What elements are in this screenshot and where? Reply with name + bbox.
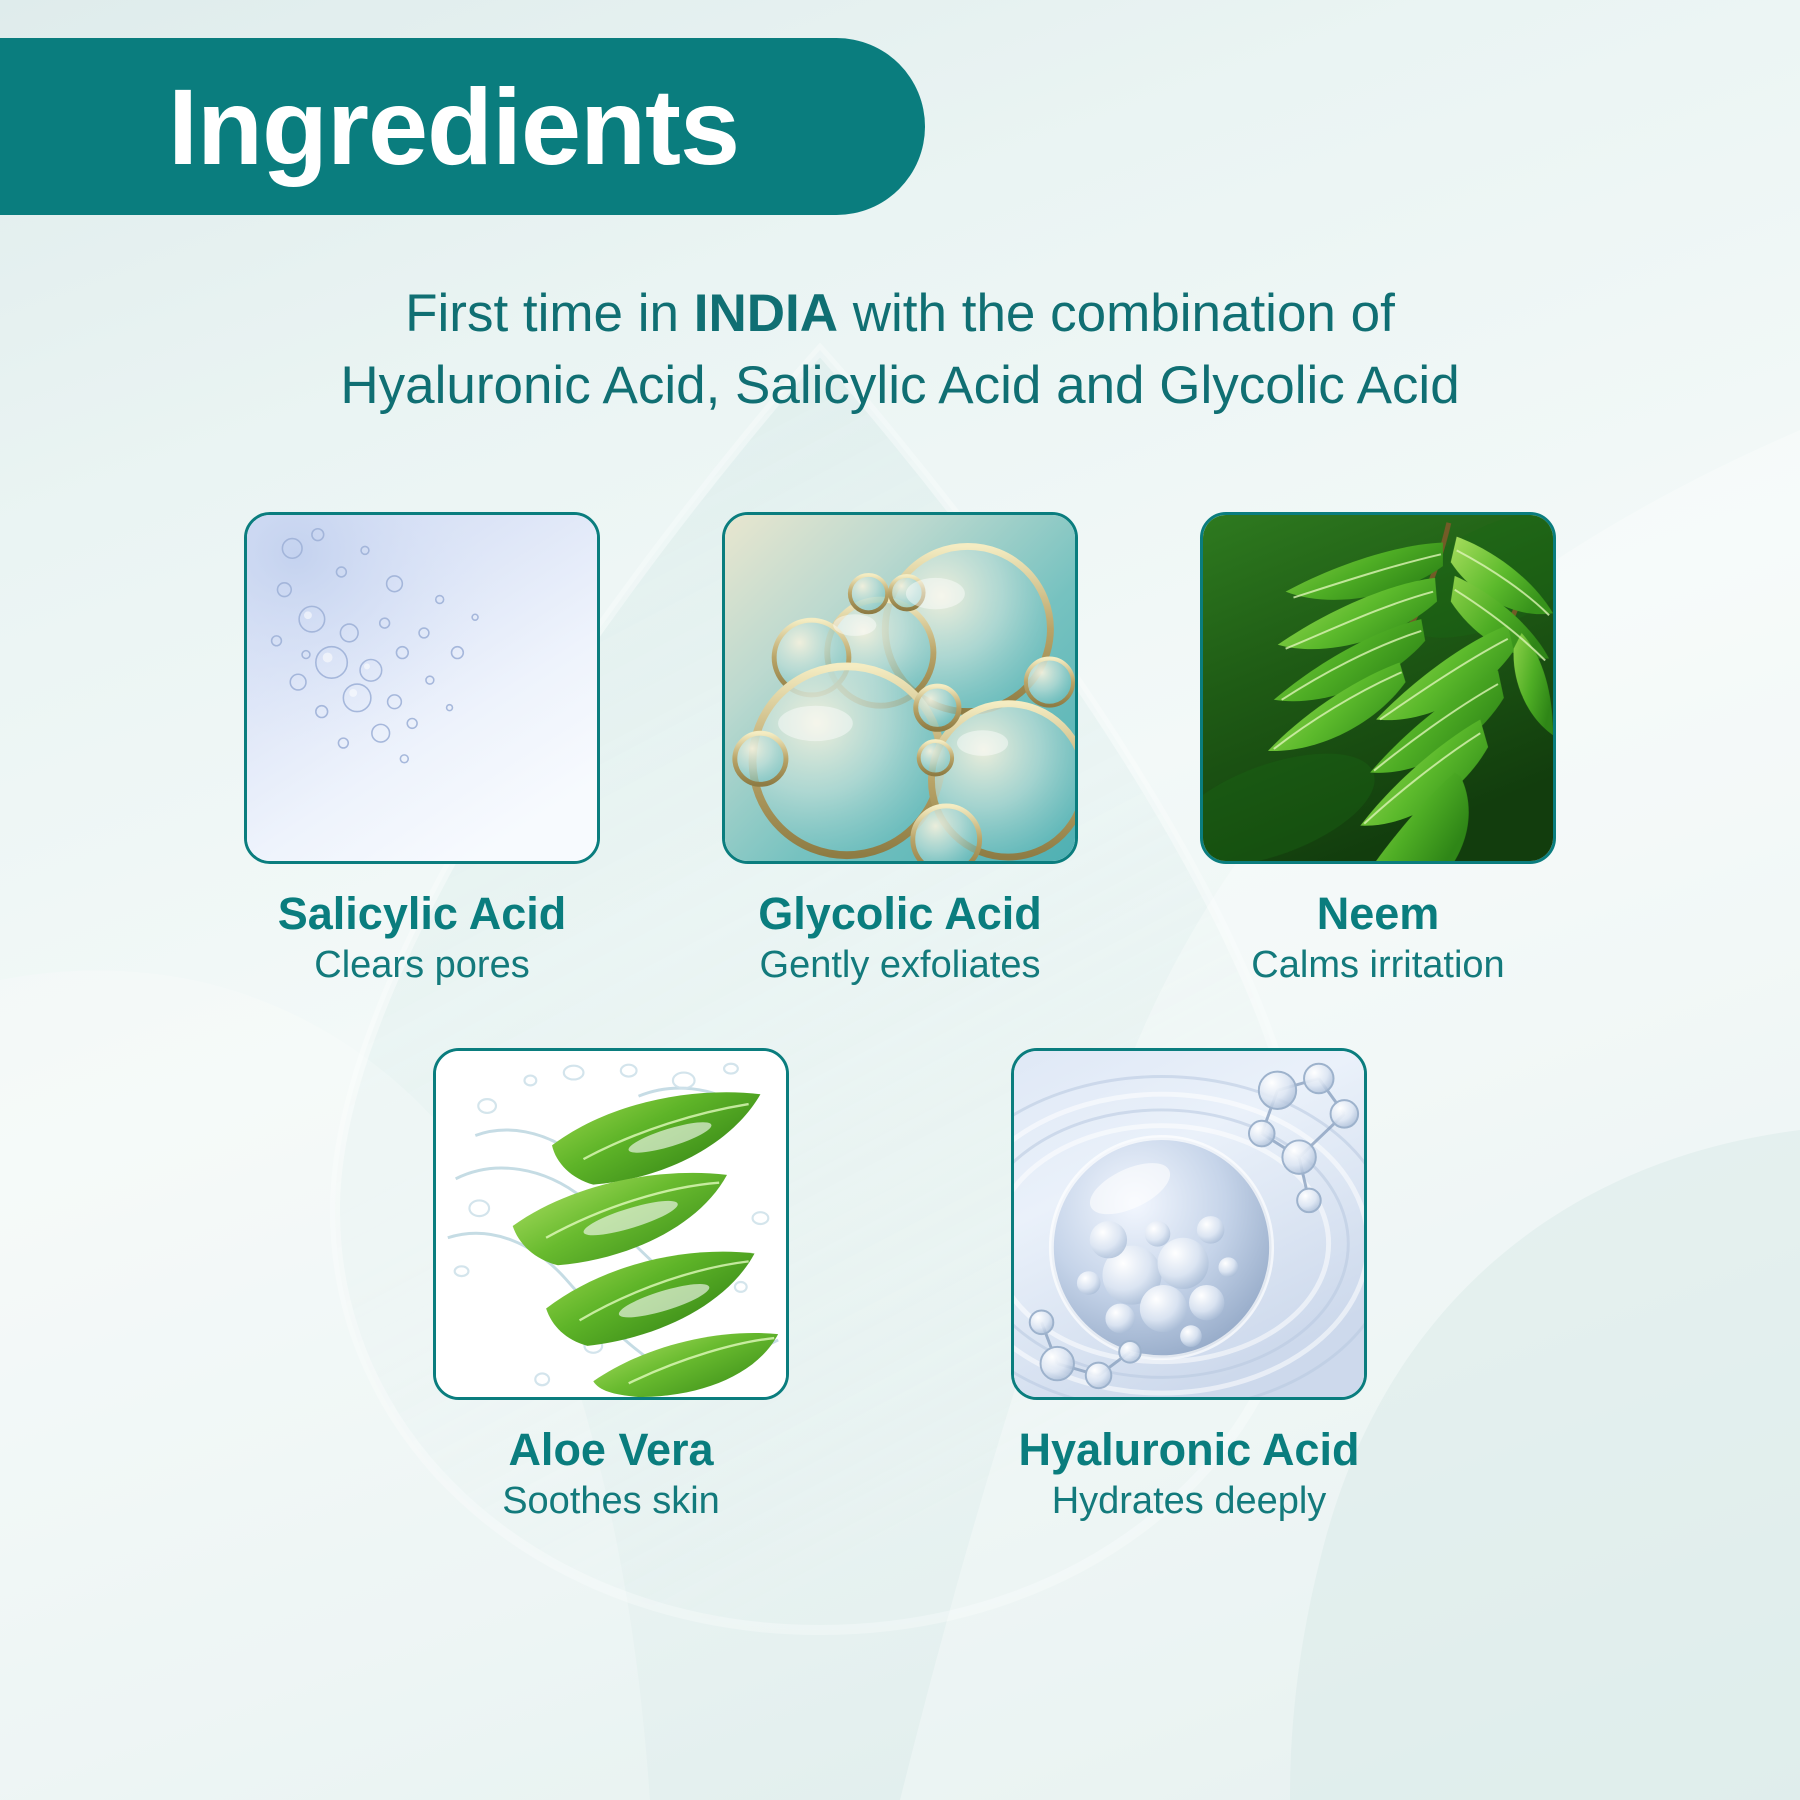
ingredient-name: Aloe Vera: [508, 1426, 713, 1475]
ingredient-name: Salicylic Acid: [278, 890, 566, 939]
ingredient-benefit: Soothes skin: [502, 1481, 720, 1523]
ingredient-row-top: Salicylic Acid Clears pores: [0, 512, 1800, 986]
ingredient-name: Neem: [1317, 890, 1440, 939]
hyaluronic-acid-image: [1011, 1048, 1367, 1400]
ingredient-name: Hyaluronic Acid: [1019, 1426, 1360, 1475]
subtitle-line1-before: First time in: [405, 284, 694, 343]
subtitle-india-emphasis: INDIA: [694, 284, 838, 343]
ingredient-benefit: Hydrates deeply: [1052, 1481, 1327, 1523]
neem-image: [1200, 512, 1556, 864]
aloe-vera-image: [433, 1048, 789, 1400]
salicylic-acid-image: [244, 512, 600, 864]
ingredient-benefit: Clears pores: [314, 945, 529, 987]
subtitle-line-2: Hyaluronic Acid, Salicylic Acid and Glyc…: [90, 350, 1710, 422]
ingredient-benefit: Calms irritation: [1251, 945, 1504, 987]
ingredient-name: Glycolic Acid: [758, 890, 1041, 939]
ingredient-row-bottom: Aloe Vera Soothes skin: [0, 1048, 1800, 1522]
header-banner: Ingredients: [0, 38, 925, 215]
ingredient-card-salicylic-acid[interactable]: Salicylic Acid Clears pores: [244, 512, 600, 986]
glycolic-acid-image: [722, 512, 1078, 864]
ingredient-benefit: Gently exfoliates: [760, 945, 1041, 987]
ingredient-card-glycolic-acid[interactable]: Glycolic Acid Gently exfoliates: [722, 512, 1078, 986]
ingredient-card-neem[interactable]: Neem Calms irritation: [1200, 512, 1556, 986]
page-title: Ingredients: [168, 73, 739, 181]
ingredient-card-aloe-vera[interactable]: Aloe Vera Soothes skin: [433, 1048, 789, 1522]
subtitle-line-1: First time in INDIA with the combination…: [90, 278, 1710, 350]
subtitle-line1-after: with the combination of: [838, 284, 1395, 343]
subtitle-block: First time in INDIA with the combination…: [0, 278, 1800, 422]
ingredient-card-hyaluronic-acid[interactable]: Hyaluronic Acid Hydrates deeply: [1011, 1048, 1367, 1522]
